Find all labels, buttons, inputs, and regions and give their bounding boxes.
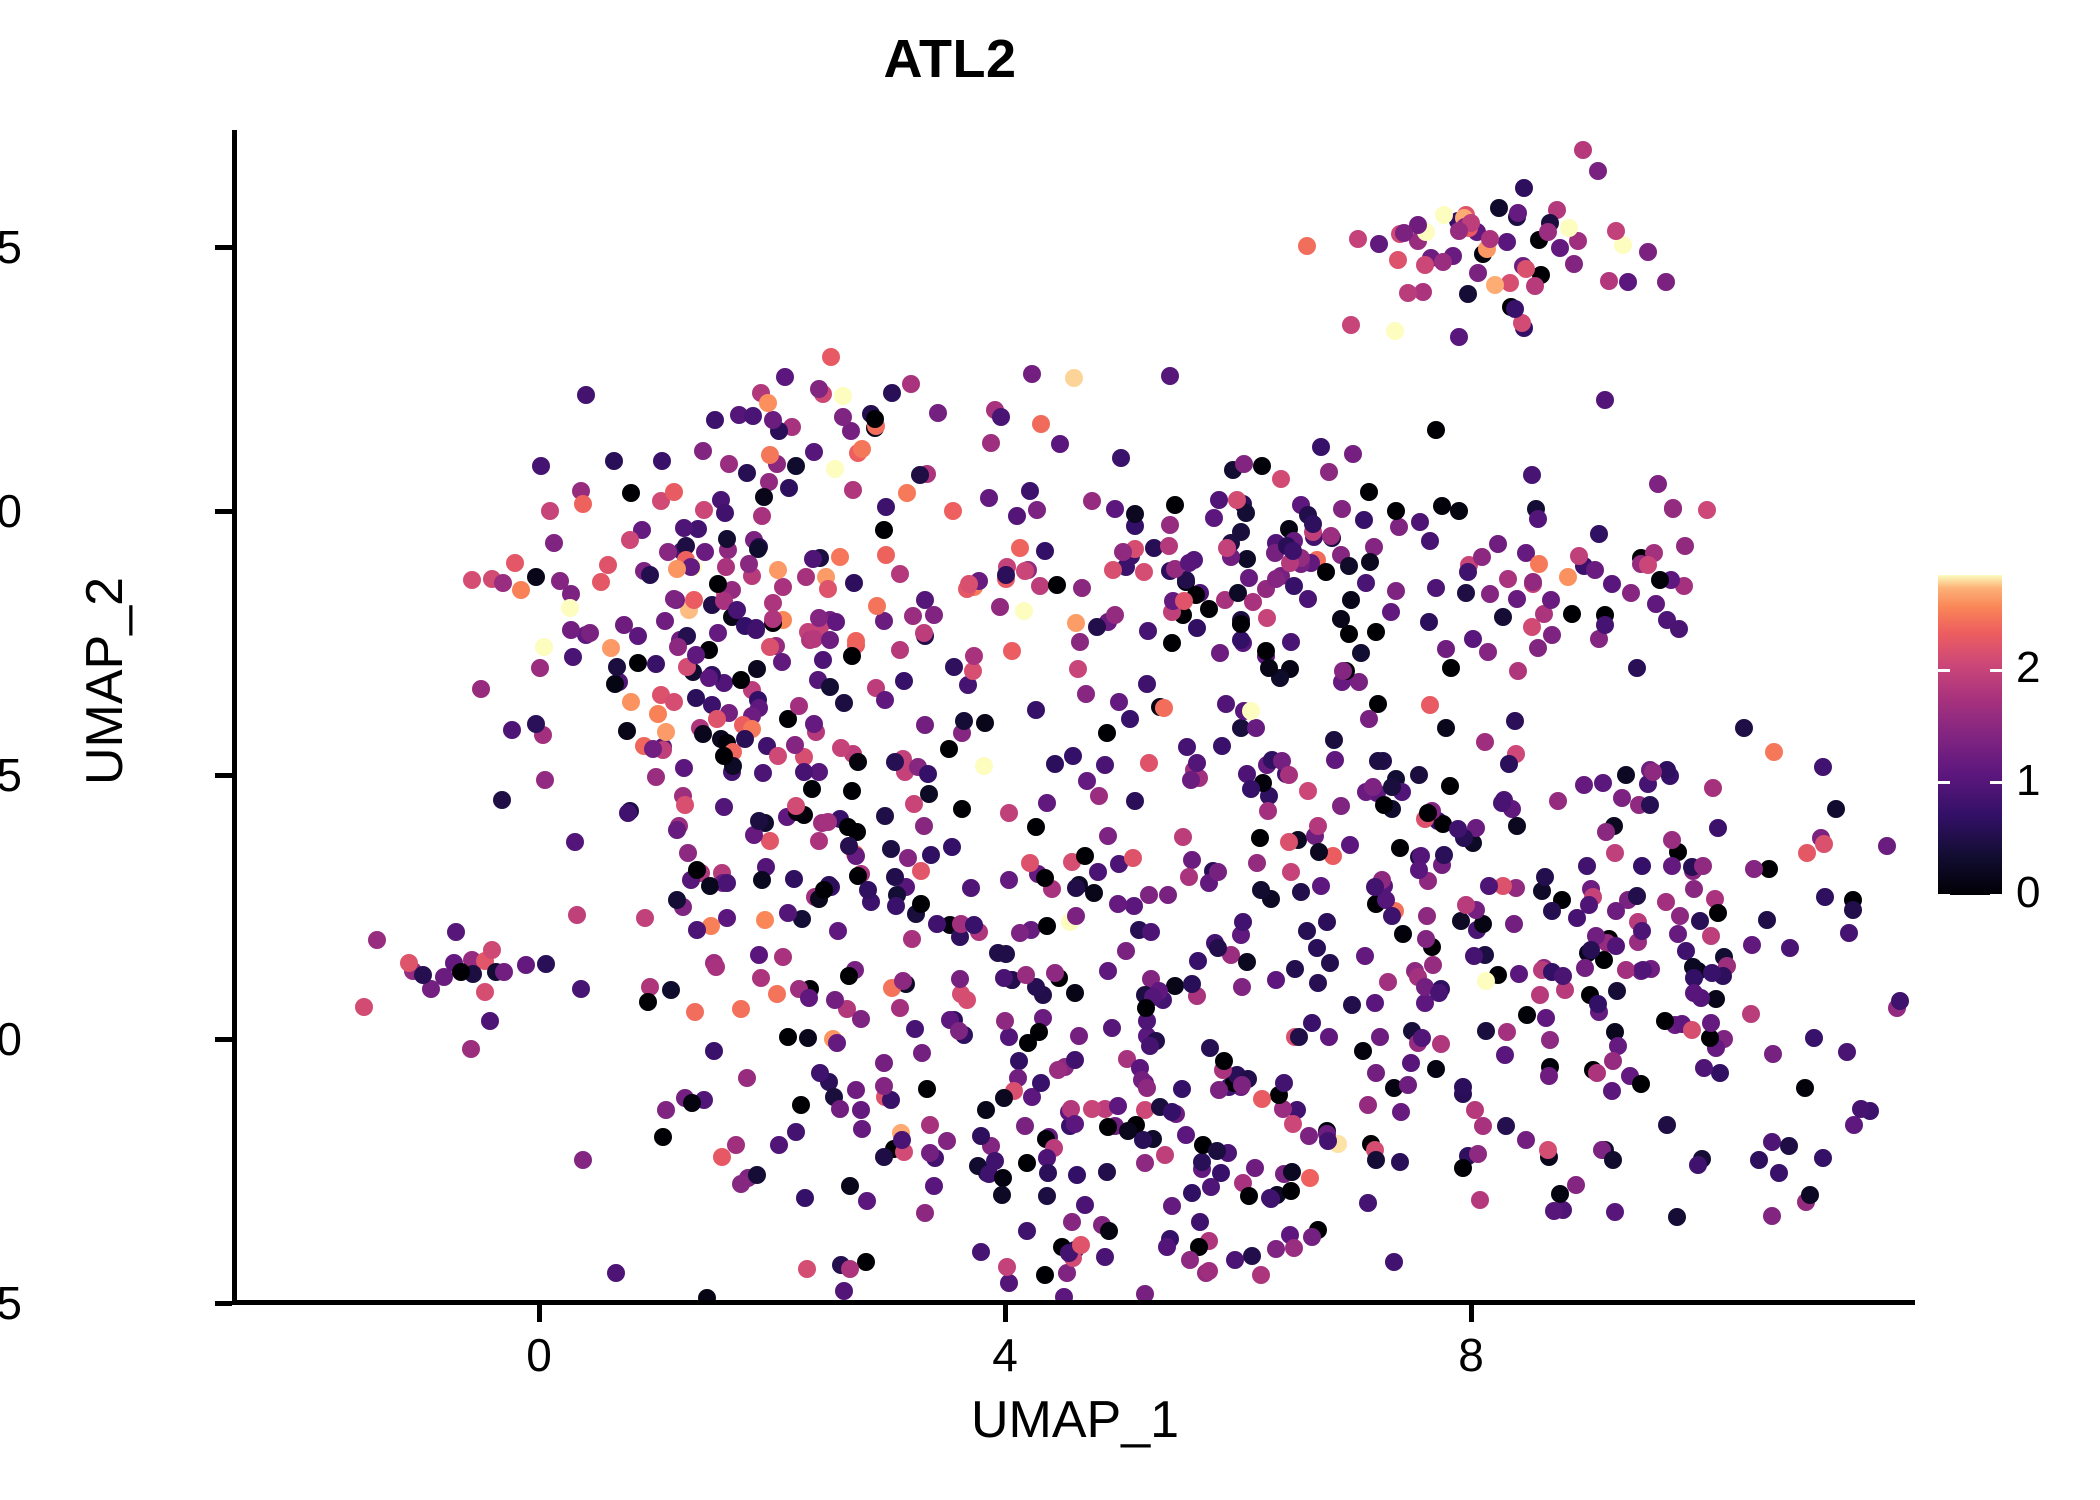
scatter-point	[1067, 614, 1085, 632]
scatter-point	[1166, 496, 1184, 514]
scatter-point	[1633, 857, 1651, 875]
scatter-point	[1292, 883, 1310, 901]
scatter-point	[913, 1044, 931, 1062]
scatter-point	[1048, 576, 1066, 594]
scatter-point	[1073, 579, 1091, 597]
scatter-point	[840, 967, 858, 985]
scatter-point	[1798, 844, 1816, 862]
scatter-point	[753, 871, 771, 889]
scatter-point	[852, 1101, 870, 1119]
scatter-point	[1038, 1187, 1056, 1205]
scatter-point	[1604, 1052, 1622, 1070]
scatter-point	[1676, 537, 1694, 555]
scatter-point	[1815, 835, 1833, 853]
colorbar-tick-label: 0	[2016, 871, 2040, 915]
scatter-point	[1399, 284, 1417, 302]
scatter-point	[1357, 574, 1375, 592]
scatter-point	[1030, 1023, 1048, 1041]
scatter-point	[1104, 561, 1122, 579]
scatter-point	[844, 481, 862, 499]
scatter-point	[649, 705, 667, 723]
scatter-point	[1743, 936, 1761, 954]
scatter-point	[786, 736, 804, 754]
scatter-point	[1352, 644, 1370, 662]
scatter-point	[1038, 917, 1056, 935]
scatter-point	[785, 870, 803, 888]
scatter-point	[1441, 777, 1459, 795]
scatter-point	[527, 715, 545, 733]
scatter-point	[996, 1012, 1014, 1030]
scatter-point	[517, 956, 535, 974]
x-tick-label: 0	[459, 1328, 619, 1382]
scatter-point	[1076, 847, 1094, 865]
scatter-point	[1109, 895, 1127, 913]
scatter-point	[1702, 1014, 1720, 1032]
scatter-point	[1360, 710, 1378, 728]
scatter-point	[1178, 738, 1196, 756]
scatter-point	[1576, 959, 1594, 977]
scatter-point	[1395, 224, 1413, 242]
scatter-point	[1531, 986, 1549, 1004]
scatter-point	[1580, 896, 1598, 914]
scatter-point	[891, 565, 909, 583]
scatter-point	[1161, 367, 1179, 385]
scatter-point	[755, 488, 773, 506]
scatter-point	[843, 647, 861, 665]
x-axis-title: UMAP_1	[235, 1390, 1915, 1450]
scatter-point	[483, 941, 501, 959]
scatter-point	[1801, 1186, 1819, 1204]
scatter-point	[1051, 435, 1069, 453]
scatter-point	[916, 1204, 934, 1222]
scatter-point	[662, 981, 680, 999]
scatter-point	[962, 879, 980, 897]
scatter-points-layer	[235, 130, 1915, 1302]
scatter-point	[835, 1282, 853, 1300]
scatter-point	[787, 1123, 805, 1141]
scatter-point	[1027, 701, 1045, 719]
scatter-point	[545, 534, 563, 552]
scatter-point	[1298, 922, 1316, 940]
scatter-point	[572, 980, 590, 998]
scatter-point	[1529, 639, 1547, 657]
scatter-point	[1069, 660, 1087, 678]
scatter-point	[1191, 1213, 1209, 1231]
scatter-point	[1038, 794, 1056, 812]
scatter-point	[1125, 897, 1143, 915]
scatter-point	[779, 904, 797, 922]
scatter-point	[1434, 253, 1452, 271]
scatter-point	[355, 998, 373, 1016]
scatter-point	[1070, 1027, 1088, 1045]
scatter-point	[1065, 369, 1083, 387]
scatter-point	[965, 647, 983, 665]
scatter-point	[709, 575, 727, 593]
scatter-point	[1139, 622, 1157, 640]
scatter-point	[1072, 1236, 1090, 1254]
scatter-point	[1506, 300, 1524, 318]
scatter-point	[1301, 1169, 1319, 1187]
scatter-point	[1560, 219, 1578, 237]
scatter-point	[876, 691, 894, 709]
scatter-point	[1559, 568, 1577, 586]
scatter-point	[912, 895, 930, 913]
scatter-point	[647, 655, 665, 673]
scatter-point	[750, 946, 768, 964]
scatter-point	[1248, 854, 1266, 872]
scatter-point	[527, 568, 545, 586]
scatter-point	[986, 1152, 1004, 1170]
scatter-point	[925, 1177, 943, 1195]
scatter-point	[852, 1010, 870, 1028]
scatter-point	[1607, 222, 1625, 240]
scatter-point	[1394, 925, 1412, 943]
scatter-point	[1633, 922, 1651, 940]
scatter-point	[541, 502, 559, 520]
scatter-point	[1261, 1189, 1279, 1207]
scatter-point	[1449, 820, 1467, 838]
scatter-point	[776, 368, 794, 386]
scatter-point	[1459, 563, 1477, 581]
scatter-point	[1639, 243, 1657, 261]
scatter-point	[1536, 868, 1554, 886]
scatter-point	[769, 561, 787, 579]
scatter-point	[826, 460, 844, 478]
scatter-point	[1023, 365, 1041, 383]
scatter-point	[1121, 710, 1139, 728]
scatter-point	[1234, 913, 1252, 931]
scatter-point	[566, 833, 584, 851]
scatter-point	[657, 1101, 675, 1119]
scatter-point	[1603, 575, 1621, 593]
scatter-point	[858, 1192, 876, 1210]
scatter-point	[1252, 881, 1270, 899]
scatter-point	[1310, 843, 1328, 861]
scatter-point	[1066, 1115, 1084, 1133]
scatter-point	[1226, 1251, 1244, 1269]
scatter-point	[1342, 316, 1360, 334]
scatter-point	[1235, 455, 1253, 473]
scatter-point	[1413, 1029, 1431, 1047]
scatter-point	[1258, 609, 1276, 627]
scatter-point	[1765, 743, 1783, 761]
scatter-point	[1704, 779, 1722, 797]
scatter-point	[819, 580, 837, 598]
scatter-point	[1432, 1035, 1450, 1053]
scatter-point	[877, 546, 895, 564]
scatter-point	[891, 999, 909, 1017]
scatter-point	[1175, 592, 1193, 610]
scatter-point	[1764, 1045, 1782, 1063]
scatter-point	[787, 457, 805, 475]
scatter-point	[629, 627, 647, 645]
scatter-point	[1181, 1251, 1199, 1269]
scatter-point	[512, 581, 530, 599]
scatter-point	[1814, 758, 1832, 776]
scatter-point	[1021, 854, 1039, 872]
scatter-point	[1385, 1253, 1403, 1271]
scatter-point	[1371, 1028, 1389, 1046]
scatter-point	[665, 693, 683, 711]
scatter-point	[958, 991, 976, 1009]
scatter-point	[774, 948, 792, 966]
scatter-point	[1617, 766, 1635, 784]
scatter-point	[773, 653, 791, 671]
scatter-point	[853, 440, 871, 458]
colorbar-tick-mark	[1990, 781, 2002, 784]
scatter-point	[1215, 1052, 1233, 1070]
scatter-point	[1267, 971, 1285, 989]
scatter-point	[706, 411, 724, 429]
scatter-point	[1135, 563, 1153, 581]
scatter-point	[1477, 972, 1495, 990]
scatter-point	[1355, 511, 1373, 529]
scatter-point	[1805, 1029, 1823, 1047]
colorbar-tick-mark	[1938, 781, 1950, 784]
scatter-point	[1015, 602, 1033, 620]
scatter-point	[1321, 954, 1339, 972]
scatter-point	[675, 759, 693, 777]
scatter-point	[831, 548, 849, 566]
scatter-point	[1386, 322, 1404, 340]
scatter-point	[819, 813, 837, 831]
scatter-point	[685, 591, 703, 609]
scatter-point	[1106, 606, 1124, 624]
scatter-point	[980, 489, 998, 507]
scatter-point	[1317, 563, 1335, 581]
scatter-point	[1594, 774, 1612, 792]
scatter-point	[1582, 941, 1600, 959]
scatter-point	[1510, 965, 1528, 983]
scatter-point	[1683, 1021, 1701, 1039]
scatter-point	[1046, 755, 1064, 773]
scatter-point	[1628, 659, 1646, 677]
scatter-point	[1160, 537, 1178, 555]
scatter-point	[1078, 772, 1096, 790]
scatter-point	[1421, 532, 1439, 550]
scatter-point	[1840, 924, 1858, 942]
scatter-point	[1480, 877, 1498, 895]
scatter-point	[1517, 1131, 1535, 1149]
scatter-point	[1758, 911, 1776, 929]
scatter-point	[1454, 1159, 1472, 1177]
scatter-point	[1177, 1126, 1195, 1144]
colorbar-tick-mark	[1938, 894, 1950, 897]
scatter-point	[1257, 642, 1275, 660]
scatter-point	[368, 931, 386, 949]
scatter-point	[841, 1177, 859, 1195]
scatter-point	[928, 915, 946, 933]
scatter-point	[1155, 699, 1173, 717]
scatter-point	[1437, 640, 1455, 658]
scatter-point	[1430, 984, 1448, 1002]
scatter-point	[1382, 603, 1400, 621]
scatter-point	[1763, 1207, 1781, 1225]
scatter-point	[495, 963, 513, 981]
scatter-point	[918, 1080, 936, 1098]
scatter-point	[1011, 924, 1029, 942]
umap-feature-plot: ATL2 -2.50.02.55.07.5 048 UMAP_1 UMAP_2 …	[0, 0, 2100, 1500]
scatter-point	[1608, 982, 1626, 1000]
scatter-point	[796, 1189, 814, 1207]
scatter-point	[1590, 525, 1608, 543]
scatter-point	[738, 1069, 756, 1087]
scatter-point	[1299, 782, 1317, 800]
scatter-point	[1183, 1184, 1201, 1202]
scatter-point	[1604, 1151, 1622, 1169]
scatter-point	[1367, 623, 1385, 641]
scatter-point	[875, 1054, 893, 1072]
scatter-point	[1312, 877, 1330, 895]
scatter-point	[1243, 1247, 1261, 1265]
scatter-point	[1027, 818, 1045, 836]
scatter-point	[1085, 884, 1103, 902]
scatter-point	[602, 639, 620, 657]
scatter-point	[1246, 1159, 1264, 1177]
scatter-point	[1499, 570, 1517, 588]
scatter-point	[481, 1012, 499, 1030]
scatter-point	[462, 1040, 480, 1058]
scatter-point	[1411, 513, 1429, 531]
scatter-point	[1201, 1039, 1219, 1057]
scatter-point	[414, 966, 432, 984]
scatter-point	[1545, 1202, 1563, 1220]
scatter-point	[797, 568, 815, 586]
scatter-point	[748, 1166, 766, 1184]
scatter-point	[738, 464, 756, 482]
scatter-point	[1845, 1116, 1863, 1134]
scatter-point	[1067, 907, 1085, 925]
scatter-point	[1565, 255, 1583, 273]
scatter-point	[1000, 804, 1018, 822]
scatter-point	[1106, 500, 1124, 518]
scatter-point	[564, 648, 582, 666]
scatter-point	[668, 560, 686, 578]
scatter-point	[982, 434, 1000, 452]
scatter-point	[832, 739, 850, 757]
scatter-point	[1691, 912, 1709, 930]
scatter-point	[828, 1034, 846, 1052]
scatter-point	[940, 740, 958, 758]
scatter-point	[1344, 445, 1362, 463]
scatter-point	[1209, 939, 1227, 957]
scatter-point	[717, 558, 735, 576]
scatter-point	[893, 1131, 911, 1149]
scatter-point	[1228, 491, 1246, 509]
scatter-point	[995, 969, 1013, 987]
scatter-point	[1508, 590, 1526, 608]
scatter-point	[1361, 553, 1379, 571]
scatter-point	[1309, 817, 1327, 835]
scatter-point	[1200, 600, 1218, 618]
scatter-point	[965, 916, 983, 934]
scatter-point	[1663, 831, 1681, 849]
scatter-point	[992, 408, 1010, 426]
scatter-point	[1303, 1014, 1321, 1032]
scatter-point	[868, 597, 886, 615]
scatter-point	[1750, 1151, 1768, 1169]
y-axis-title: UMAP_2	[75, 331, 135, 1031]
scatter-point	[834, 387, 852, 405]
scatter-point	[1589, 995, 1607, 1013]
scatter-point	[898, 484, 916, 502]
scatter-point	[696, 543, 714, 561]
scatter-point	[915, 624, 933, 642]
scatter-point	[1551, 239, 1569, 257]
scatter-point	[1494, 608, 1512, 626]
scatter-point	[687, 689, 705, 707]
scatter-point	[1518, 1006, 1536, 1024]
scatter-point	[921, 1116, 939, 1134]
scatter-point	[1088, 618, 1106, 636]
scatter-point	[1275, 1074, 1293, 1092]
scatter-point	[668, 821, 686, 839]
scatter-point	[1543, 902, 1561, 920]
scatter-point	[700, 669, 718, 687]
scatter-point	[1508, 817, 1526, 835]
scatter-point	[1112, 449, 1130, 467]
scatter-point	[972, 1127, 990, 1145]
scatter-point	[827, 613, 845, 631]
scatter-point	[619, 804, 637, 822]
scatter-point	[1606, 1203, 1624, 1221]
scatter-point	[1474, 1117, 1492, 1135]
scatter-point	[718, 874, 736, 892]
scatter-point	[659, 543, 677, 561]
scatter-point	[494, 574, 512, 592]
scatter-point	[753, 507, 771, 525]
scatter-point	[1575, 776, 1593, 794]
scatter-point	[1418, 907, 1436, 925]
scatter-point	[1685, 880, 1703, 898]
scatter-point	[1309, 974, 1327, 992]
scatter-point	[799, 1029, 817, 1047]
scatter-point	[1251, 829, 1269, 847]
scatter-point	[1333, 500, 1351, 518]
scatter-point	[574, 495, 592, 513]
scatter-point	[1424, 956, 1442, 974]
scatter-point	[750, 812, 768, 830]
scatter-point	[1695, 1059, 1713, 1077]
scatter-point	[866, 410, 884, 428]
scatter-point	[1312, 438, 1330, 456]
scatter-point	[1334, 662, 1352, 680]
scatter-point	[629, 654, 647, 672]
scatter-point	[621, 531, 639, 549]
scatter-point	[1098, 1163, 1116, 1181]
scatter-point	[1021, 482, 1039, 500]
scatter-point	[1242, 702, 1260, 720]
scatter-point	[975, 757, 993, 775]
scatter-point	[1272, 470, 1290, 488]
scatter-point	[756, 911, 774, 929]
scatter-point	[919, 765, 937, 783]
scatter-point	[535, 638, 553, 656]
scatter-point	[904, 607, 922, 625]
scatter-point	[1211, 644, 1229, 662]
scatter-point	[1529, 510, 1547, 528]
scatter-point	[1539, 223, 1557, 241]
scatter-point	[895, 672, 913, 690]
scatter-point	[1141, 1037, 1159, 1055]
scatter-point	[695, 501, 713, 519]
scatter-point	[925, 606, 943, 624]
scatter-point	[1442, 659, 1460, 677]
colorbar-tick-mark	[1990, 894, 2002, 897]
scatter-point	[1657, 893, 1675, 911]
scatter-point	[1597, 823, 1615, 841]
scatter-point	[1399, 1076, 1417, 1094]
